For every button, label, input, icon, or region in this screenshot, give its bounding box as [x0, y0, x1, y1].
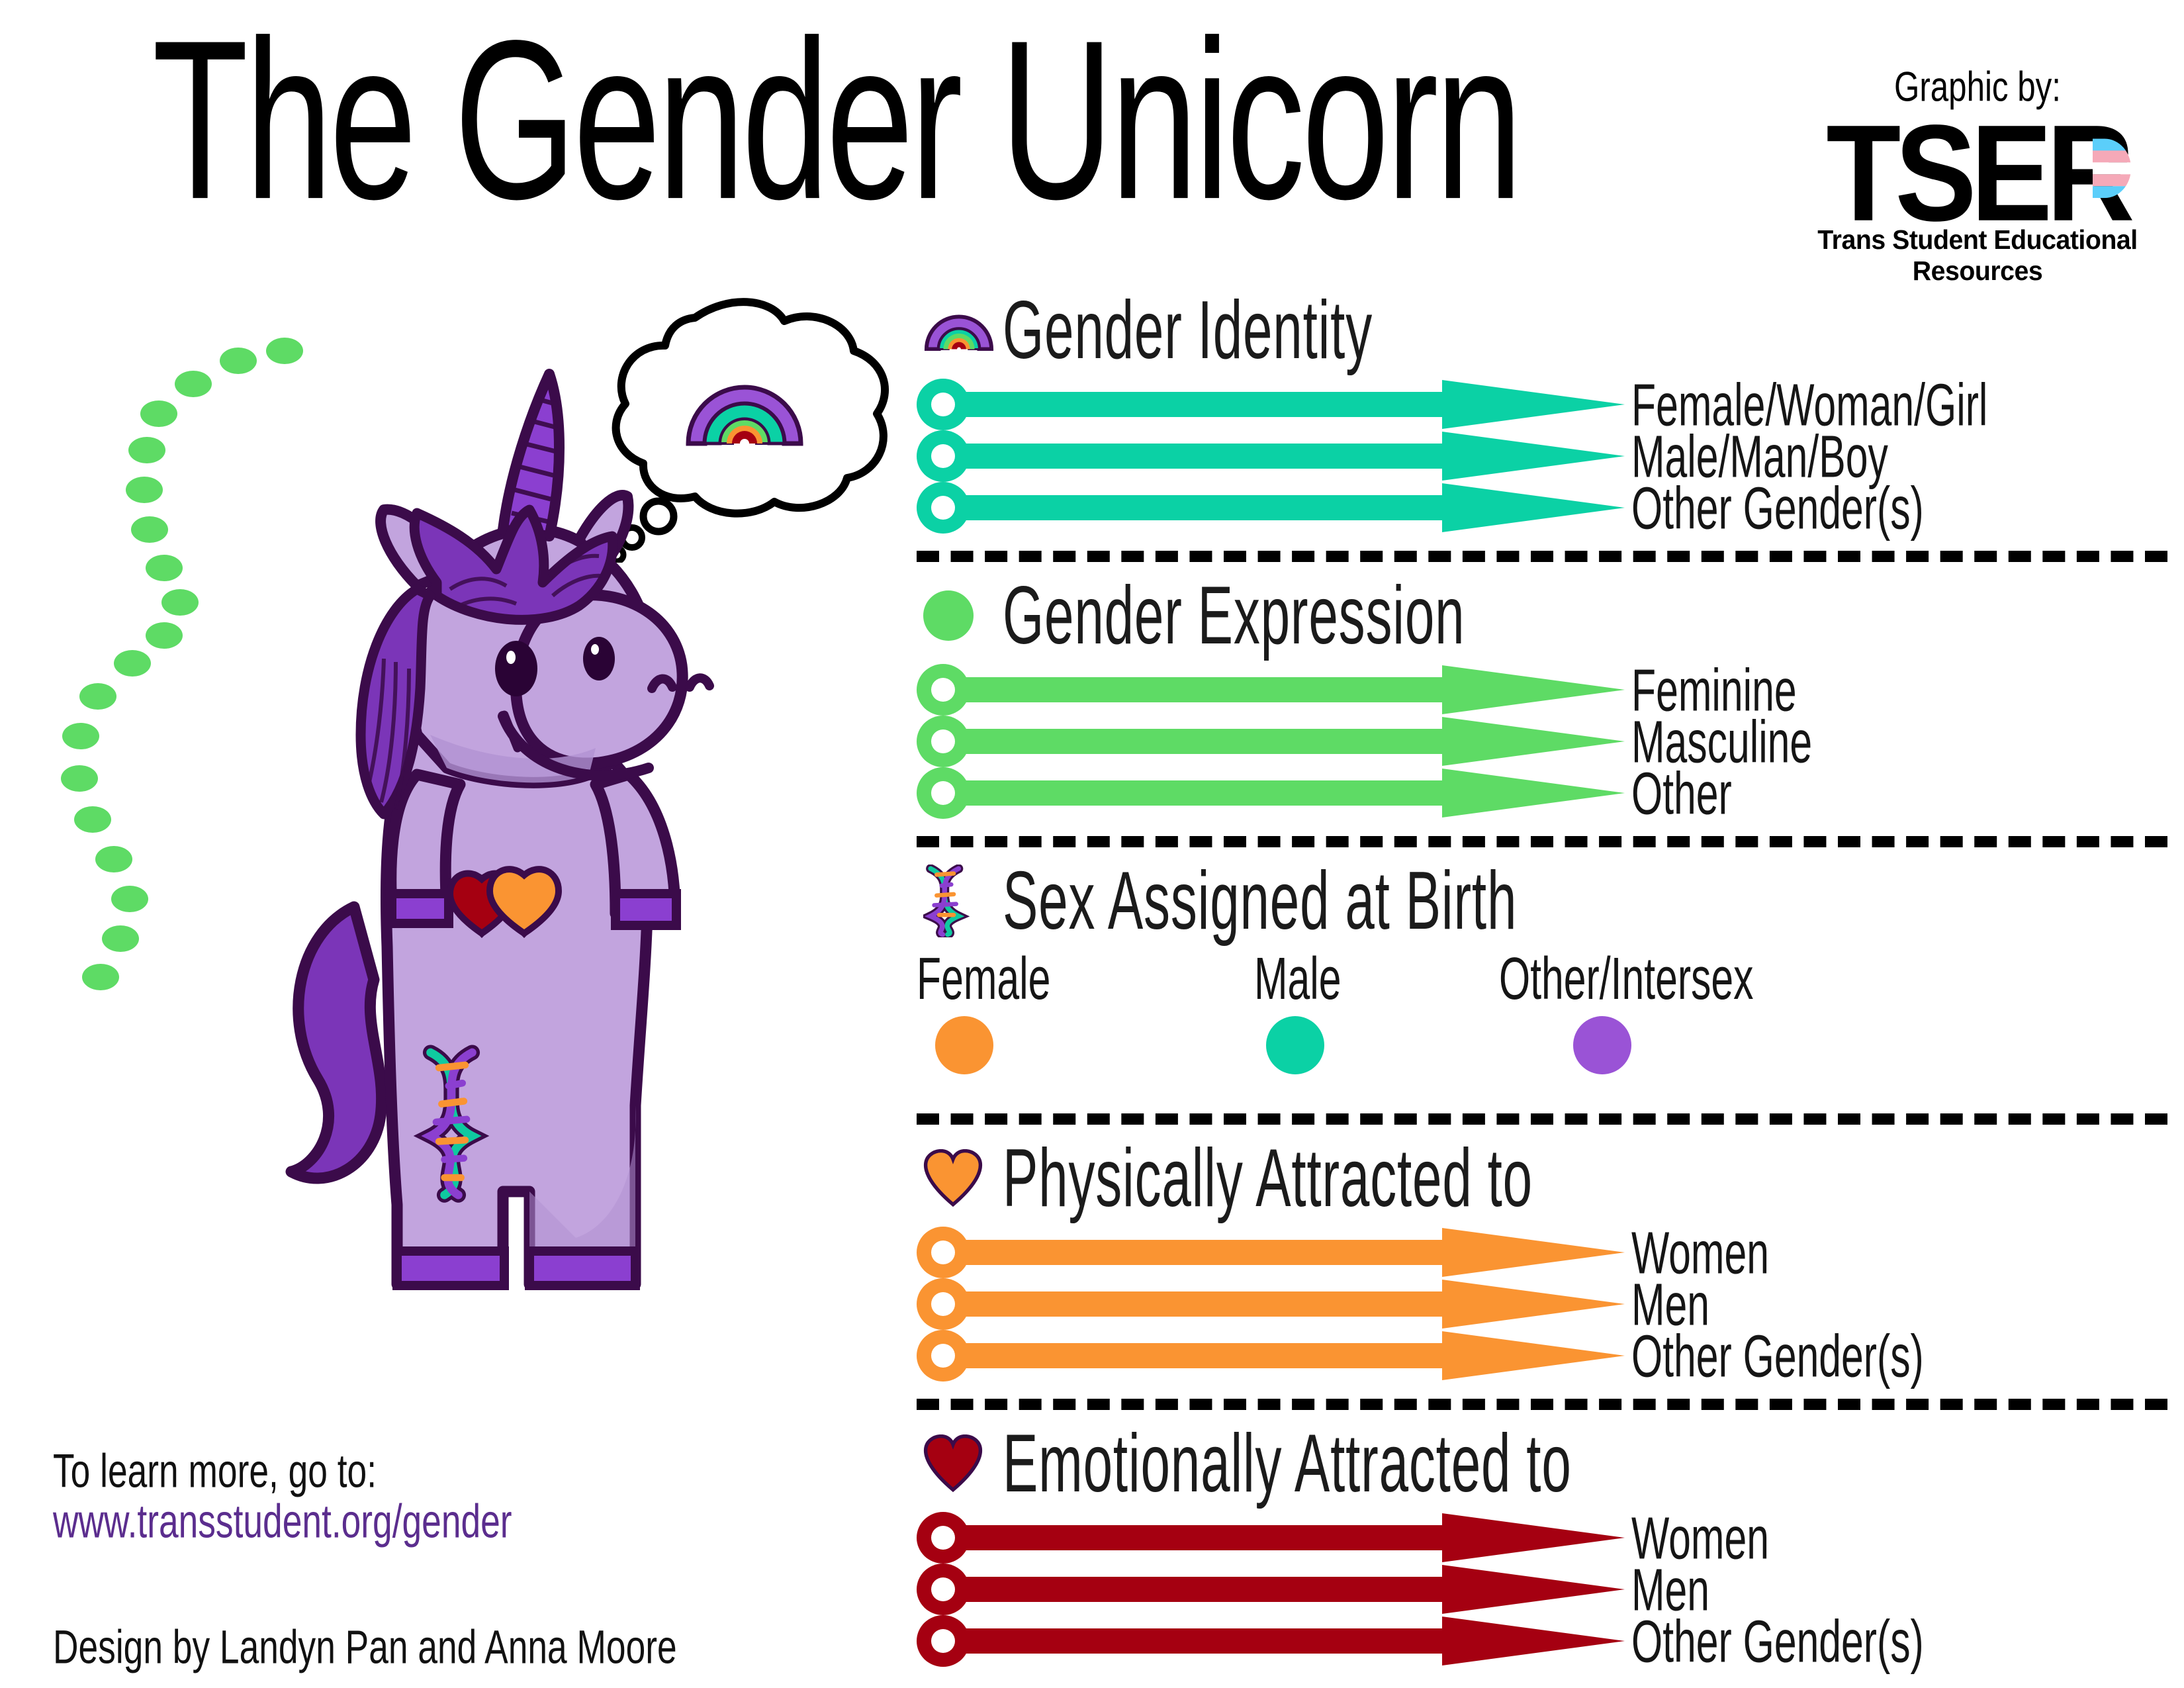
- design-credit: Design by Landyn Pan and Anna Moore: [53, 1619, 679, 1677]
- section-title: Emotionally Attracted to: [1003, 1417, 1572, 1511]
- section-sex-assigned-at-birth: Sex Assigned at Birth Female Male Other/…: [917, 862, 2161, 1096]
- emotional-attraction-arrow[interactable]: [917, 1512, 1625, 1564]
- scale-label: Other: [1631, 759, 1732, 827]
- footer: To learn more, go to: www.transstudent.o…: [53, 1443, 781, 1669]
- sex-option-label: Male: [1254, 944, 1342, 1013]
- page-title: The Gender Unicorn: [152, 7, 1520, 233]
- section-title: Physically Attracted to: [1003, 1131, 1533, 1226]
- gender-identity-arrow[interactable]: [917, 379, 1625, 430]
- scale-row[interactable]: Masculine: [917, 716, 2161, 767]
- rainbow-icon: [923, 310, 1003, 351]
- sections-panel: Gender Identity Female/Woman/Girl: [917, 291, 2161, 1667]
- orange-heart-icon: [923, 1149, 1003, 1207]
- section-gender-expression: Gender Expression Feminine: [917, 577, 2161, 819]
- section-title: Gender Expression: [1003, 569, 1465, 663]
- section-divider: [917, 551, 2167, 562]
- scale-label: Other Gender(s): [1631, 1607, 1924, 1675]
- scale-row[interactable]: Men: [917, 1278, 2161, 1330]
- section-header: Gender Identity: [923, 291, 2161, 369]
- red-heart-icon: [923, 1434, 1003, 1493]
- unicorn-illustration: [218, 311, 801, 1370]
- scale-row[interactable]: Female/Woman/Girl: [917, 379, 2161, 430]
- section-physically-attracted-to: Physically Attracted to Women: [917, 1139, 2161, 1382]
- section-title: Sex Assigned at Birth: [1003, 854, 1517, 949]
- sex-option-male[interactable]: Male: [1254, 944, 1360, 1074]
- physical-attraction-arrow[interactable]: [917, 1278, 1625, 1330]
- sex-assigned-options: Female Male Other/Intersex: [917, 944, 2161, 1096]
- scale-row[interactable]: Women: [917, 1512, 2161, 1564]
- scale-row[interactable]: Women: [917, 1227, 2161, 1278]
- sex-option-dot[interactable]: [1266, 1016, 1324, 1074]
- section-header: Sex Assigned at Birth: [923, 862, 2161, 940]
- scale-row[interactable]: Other: [917, 767, 2161, 819]
- tser-wordmark: TSER: [1805, 111, 2150, 237]
- gender-expression-arrow[interactable]: [917, 716, 1625, 767]
- website-link[interactable]: www.transstudent.org/gender: [53, 1493, 679, 1551]
- sex-option-dot[interactable]: [935, 1016, 993, 1074]
- scale-row[interactable]: Other Gender(s): [917, 482, 2161, 534]
- dna-icon: [923, 865, 1003, 937]
- section-header: Gender Expression: [923, 577, 2161, 655]
- section-divider: [917, 836, 2167, 847]
- green-circle-icon: [923, 590, 1003, 641]
- graphic-credit: Graphic by: TSER Trans Student Education…: [1805, 65, 2150, 287]
- physical-attraction-arrow[interactable]: [917, 1330, 1625, 1382]
- learn-more-label: To learn more, go to:: [53, 1443, 679, 1501]
- section-header: Emotionally Attracted to: [923, 1425, 2161, 1503]
- sex-option-label: Female: [917, 944, 1050, 1013]
- scale-row[interactable]: Men: [917, 1564, 2161, 1615]
- sex-option-female[interactable]: Female: [917, 944, 1080, 1074]
- scale-row[interactable]: Other Gender(s): [917, 1330, 2161, 1382]
- emotional-attraction-arrow[interactable]: [917, 1564, 1625, 1615]
- gender-expression-arrow[interactable]: [917, 664, 1625, 716]
- section-emotionally-attracted-to: Emotionally Attracted to Women: [917, 1425, 2161, 1667]
- tser-full-name: Trans Student Educational Resources: [1811, 224, 2144, 287]
- section-divider: [917, 1113, 2167, 1125]
- arrow-rows: Women Men: [917, 1227, 2161, 1382]
- sex-option-label: Other/Intersex: [1499, 944, 1753, 1013]
- emotional-attraction-arrow[interactable]: [917, 1615, 1625, 1667]
- gender-expression-arrow[interactable]: [917, 767, 1625, 819]
- section-title: Gender Identity: [1003, 283, 1373, 378]
- gender-identity-arrow[interactable]: [917, 482, 1625, 534]
- sex-option-dot[interactable]: [1573, 1016, 1631, 1074]
- gender-identity-arrow[interactable]: [917, 430, 1625, 482]
- physical-attraction-arrow[interactable]: [917, 1227, 1625, 1278]
- sex-option-other-intersex[interactable]: Other/Intersex: [1499, 944, 1809, 1074]
- section-gender-identity: Gender Identity Female/Woman/Girl: [917, 291, 2161, 534]
- arrow-rows: Female/Woman/Girl Male/Man/Boy: [917, 379, 2161, 534]
- scale-label: Other Gender(s): [1631, 1321, 1924, 1390]
- section-divider: [917, 1399, 2167, 1410]
- scale-row[interactable]: Other Gender(s): [917, 1615, 2161, 1667]
- scale-row[interactable]: Male/Man/Boy: [917, 430, 2161, 482]
- section-header: Physically Attracted to: [923, 1139, 2161, 1217]
- arrow-rows: Feminine Masculine: [917, 664, 2161, 819]
- scale-row[interactable]: Feminine: [917, 664, 2161, 716]
- scale-label: Other Gender(s): [1631, 473, 1924, 542]
- arrow-rows: Women Men: [917, 1512, 2161, 1667]
